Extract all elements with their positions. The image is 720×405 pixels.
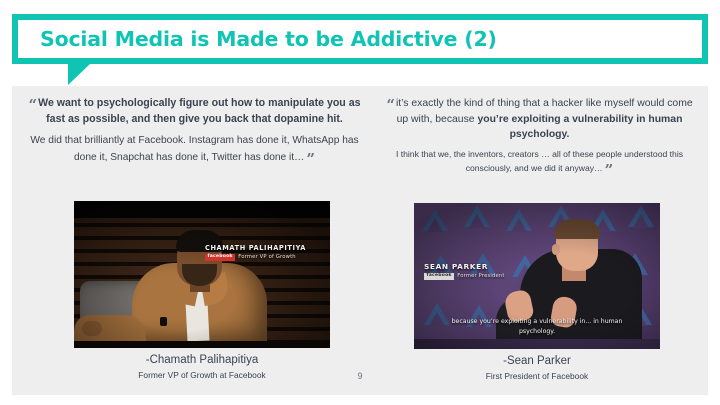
quote-block-parker: “it’s exactly the kind of thing that a h… — [377, 96, 702, 175]
quote-block-chamath: “We want to psychologically figure out h… — [22, 96, 367, 166]
photo-parker: SEAN PARKER facebook Former President be… — [414, 203, 660, 349]
quote-chamath-normal: We did that brilliantly at Facebook. Ins… — [22, 132, 367, 166]
quote-parker-bold-text: you’re exploiting a vulnerability in hum… — [477, 114, 682, 141]
speech-bubble-tail — [68, 64, 90, 85]
quote-close-mark-icon: ” — [306, 150, 315, 168]
photo-parker-subtitle: because you’re exploiting a vulnerabilit… — [414, 317, 660, 336]
lower-third-role: Former VP of Growth — [238, 255, 296, 260]
lower-third-row: facebook Former VP of Growth — [205, 254, 306, 261]
caption-name: -Chamath Palihapitiya — [74, 353, 330, 368]
lower-third-role: Former President — [457, 274, 504, 279]
facebook-badge: facebook — [424, 273, 454, 280]
title-banner-inner: Social Media is Made to be Addictive (2) — [18, 20, 702, 58]
photo-chamath-vignette — [74, 201, 330, 348]
quote-parker-normal-text: I think that we, the inventors, creators… — [396, 149, 683, 173]
facebook-badge: facebook — [205, 254, 235, 261]
quote-parker-lead: “it’s exactly the kind of thing that a h… — [377, 96, 702, 143]
quote-close-mark-icon: ” — [605, 161, 614, 179]
slide: Social Media is Made to be Addictive (2)… — [0, 0, 720, 405]
page-title: Social Media is Made to be Addictive (2) — [40, 27, 497, 51]
page-number: 9 — [12, 371, 708, 381]
quote-open-mark-icon: “ — [386, 96, 395, 114]
quote-open-mark-icon: “ — [29, 96, 38, 114]
lower-third-name: CHAMATH PALIHAPITIYA — [205, 245, 306, 252]
title-banner: Social Media is Made to be Addictive (2) — [12, 14, 708, 64]
lower-third-name: SEAN PARKER — [424, 263, 505, 271]
content-area: “We want to psychologically figure out h… — [12, 86, 708, 395]
caption-name: -Sean Parker — [408, 354, 666, 369]
photo-chamath: CHAMATH PALIHAPITIYA facebook Former VP … — [74, 201, 330, 348]
quote-parker-normal: I think that we, the inventors, creators… — [377, 147, 702, 175]
lower-third-row: facebook Former President — [424, 273, 505, 280]
quote-chamath-bold-text: We want to psychologically figure out ho… — [38, 97, 360, 125]
photo-chamath-lower-third: CHAMATH PALIHAPITIYA facebook Former VP … — [205, 245, 306, 261]
quote-chamath-bold: “We want to psychologically figure out h… — [22, 96, 367, 127]
photo-parker-lower-third: SEAN PARKER facebook Former President — [424, 263, 505, 280]
photo-chamath-bottom-letterbox — [74, 341, 330, 348]
